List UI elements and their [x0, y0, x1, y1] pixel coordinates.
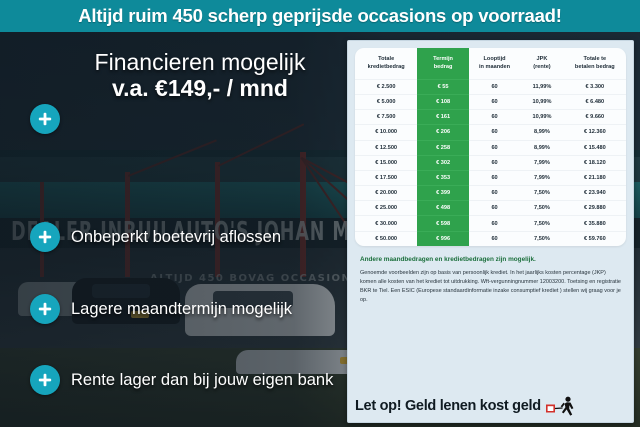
table-cell: € 498: [417, 201, 468, 216]
table-row: € 17.500€ 353607,99%€ 21.180: [355, 170, 626, 185]
feature-item-label: Lagere maandtermijn mogelijk: [71, 300, 292, 319]
table-cell: € 3.300: [564, 79, 626, 94]
plus-icon: [30, 222, 60, 252]
table-row: € 15.000€ 302607,99%€ 18.120: [355, 155, 626, 170]
table-cell: € 12.360: [564, 125, 626, 140]
table-cell: € 6.480: [564, 94, 626, 109]
table-cell: 60: [469, 186, 520, 201]
table-cell: € 996: [417, 231, 468, 246]
table-cell: € 20.000: [355, 186, 417, 201]
table-row: € 50.000€ 996607,50%€ 59.760: [355, 231, 626, 246]
table-cell: 7,50%: [520, 201, 563, 216]
table-cell: 10,99%: [520, 110, 563, 125]
rates-table-body: € 2.500€ 556011,99%€ 3.300€ 5.000€ 10860…: [355, 79, 626, 246]
headline-line-1: Financieren mogelijk: [56, 50, 344, 75]
table-cell: € 258: [417, 140, 468, 155]
table-cell: 60: [469, 170, 520, 185]
headline-block: Financieren mogelijk v.a. €149,- / mnd: [56, 50, 344, 102]
warning-text: Let op! Geld lenen kost geld: [355, 398, 541, 414]
table-row: € 20.000€ 399607,50%€ 23.940: [355, 186, 626, 201]
table-header-row: TotalekredietbedragTermijnbedragLooptijd…: [355, 48, 626, 79]
plus-icon: [30, 365, 60, 395]
plus-icon: [30, 104, 60, 134]
table-cell: € 302: [417, 155, 468, 170]
table-cell: 11,99%: [520, 79, 563, 94]
table-cell: € 206: [417, 125, 468, 140]
feature-item-rente-lager: Rente lager dan bij jouw eigen bank: [30, 365, 333, 395]
table-cell: 60: [469, 125, 520, 140]
table-cell: 60: [469, 155, 520, 170]
promo-banner-text: Altijd ruim 450 scherp geprijsde occasio…: [78, 5, 562, 27]
table-cell: 8,99%: [520, 125, 563, 140]
table-cell: 60: [469, 201, 520, 216]
table-header-cell: Termijnbedrag: [417, 48, 468, 79]
table-header-cell: Totalekredietbedrag: [355, 48, 417, 79]
table-cell: € 353: [417, 170, 468, 185]
table-cell: € 108: [417, 94, 468, 109]
table-cell: € 598: [417, 216, 468, 231]
table-cell: € 17.500: [355, 170, 417, 185]
finance-rates-panel: TotalekredietbedragTermijnbedragLooptijd…: [347, 40, 634, 423]
feature-item-boetevrij-aflossen: Onbeperkt boetevrij aflossen: [30, 222, 281, 252]
table-header-cell: Totale tebetalen bedrag: [564, 48, 626, 79]
table-cell: € 35.880: [564, 216, 626, 231]
table-header-cell: JPK(rente): [520, 48, 563, 79]
table-row: € 5.000€ 1086010,99%€ 6.480: [355, 94, 626, 109]
table-cell: € 7.500: [355, 110, 417, 125]
feature-item-label: Rente lager dan bij jouw eigen bank: [71, 371, 333, 390]
headline-bullet-marker: [30, 104, 60, 134]
rates-table: TotalekredietbedragTermijnbedragLooptijd…: [355, 48, 626, 246]
table-cell: € 161: [417, 110, 468, 125]
table-cell: € 9.660: [564, 110, 626, 125]
headline-line-2: v.a. €149,- / mnd: [56, 75, 344, 102]
table-row: € 10.000€ 206608,99%€ 12.360: [355, 125, 626, 140]
promo-banner: Altijd ruim 450 scherp geprijsde occasio…: [0, 0, 640, 32]
table-cell: 60: [469, 216, 520, 231]
table-cell: € 5.000: [355, 94, 417, 109]
table-cell: € 21.180: [564, 170, 626, 185]
table-cell: 7,50%: [520, 231, 563, 246]
table-cell: 10,99%: [520, 94, 563, 109]
notice-block: Andere maandbedragen en kredietbedragen …: [355, 246, 626, 305]
table-cell: 60: [469, 231, 520, 246]
table-cell: € 59.760: [564, 231, 626, 246]
table-cell: € 15.000: [355, 155, 417, 170]
table-cell: € 50.000: [355, 231, 417, 246]
table-cell: € 12.500: [355, 140, 417, 155]
table-cell: 8,99%: [520, 140, 563, 155]
table-row: € 7.500€ 1616010,99%€ 9.660: [355, 110, 626, 125]
table-cell: € 30.000: [355, 216, 417, 231]
rates-table-head: TotalekredietbedragTermijnbedragLooptijd…: [355, 48, 626, 79]
table-cell: € 2.500: [355, 79, 417, 94]
feature-list: Financieren mogelijk v.a. €149,- / mnd O…: [0, 32, 348, 427]
table-cell: € 23.940: [564, 186, 626, 201]
table-header-cell: Looptijdin maanden: [469, 48, 520, 79]
warning-block: Let op! Geld lenen kost geld: [355, 396, 626, 416]
table-cell: 7,50%: [520, 186, 563, 201]
table-cell: 60: [469, 94, 520, 109]
feature-item-lagere-maandtermijn: Lagere maandtermijn mogelijk: [30, 294, 292, 324]
table-cell: 60: [469, 140, 520, 155]
table-row: € 30.000€ 598607,50%€ 35.880: [355, 216, 626, 231]
geld-lenen-kost-geld-icon: [545, 396, 579, 416]
table-cell: 7,99%: [520, 170, 563, 185]
notice-title: Andere maandbedragen en kredietbedragen …: [360, 256, 621, 264]
plus-icon: [30, 294, 60, 324]
table-cell: 60: [469, 79, 520, 94]
table-row: € 2.500€ 556011,99%€ 3.300: [355, 79, 626, 94]
table-row: € 12.500€ 258608,99%€ 15.480: [355, 140, 626, 155]
table-cell: € 25.000: [355, 201, 417, 216]
table-cell: € 55: [417, 79, 468, 94]
rates-table-card: TotalekredietbedragTermijnbedragLooptijd…: [355, 48, 626, 246]
feature-item-label: Onbeperkt boetevrij aflossen: [71, 228, 281, 247]
table-cell: 7,99%: [520, 155, 563, 170]
notice-body: Genoemde voorbeelden zijn op basis van p…: [360, 269, 621, 305]
table-row: € 25.000€ 498607,50%€ 29.880: [355, 201, 626, 216]
table-cell: € 399: [417, 186, 468, 201]
table-cell: 7,50%: [520, 216, 563, 231]
table-cell: 60: [469, 110, 520, 125]
table-cell: € 10.000: [355, 125, 417, 140]
table-cell: € 15.480: [564, 140, 626, 155]
table-cell: € 29.880: [564, 201, 626, 216]
table-cell: € 18.120: [564, 155, 626, 170]
